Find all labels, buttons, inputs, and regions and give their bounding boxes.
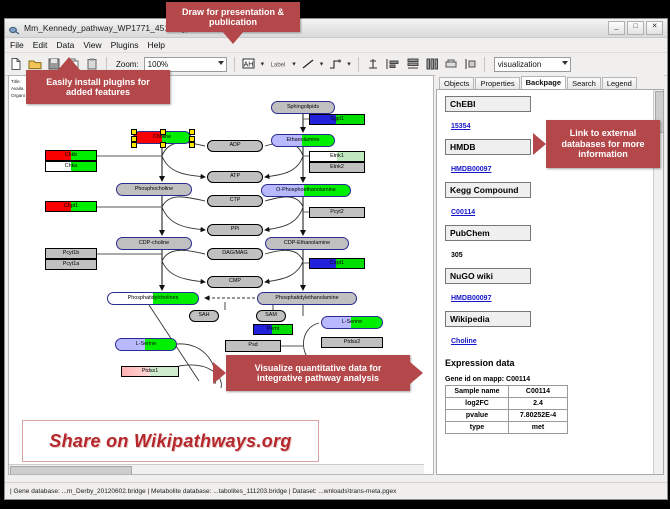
canvas-hscroll-thumb[interactable] [10, 466, 132, 475]
n-sgpl1[interactable]: Sgpl1 [309, 114, 365, 125]
n-psd-label: Psd [248, 343, 257, 348]
expr-key-type: type [446, 422, 509, 434]
text-tool-icon[interactable]: AH [242, 57, 256, 71]
table-row: pvalue 7.80252E-4 [446, 410, 568, 422]
n-sgpl1-label: Sgpl1 [330, 117, 344, 122]
toolbar-separator-4 [484, 57, 485, 72]
open-icon[interactable] [28, 57, 42, 71]
table-row: Sample name C00114 [446, 386, 568, 398]
n-lserine-right[interactable]: L-Serine [321, 316, 383, 329]
menu-bar: File Edit Data View Plugins Help [5, 38, 667, 53]
chevron-down-icon-2 [562, 61, 568, 65]
label-tool-icon[interactable]: Label [269, 57, 287, 71]
tab-backpage[interactable]: Backpage [521, 76, 566, 89]
menu-item-plugins[interactable]: Plugins [111, 40, 139, 50]
n-ctp[interactable]: CTP [207, 195, 263, 207]
callout-draw: Draw for presentation & publication [166, 2, 300, 32]
n-dagmag[interactable]: DAG/MAG [207, 248, 263, 260]
n-ptdss1[interactable]: Ptdss1 [121, 366, 179, 377]
n-cdp-ethanolamine[interactable]: CDP-Ethanolamine [265, 237, 349, 250]
menu-item-file[interactable]: File [10, 40, 24, 50]
n-chkb-label: Chkb [65, 153, 78, 158]
pathway-canvas[interactable]: Title: Availa Organi [8, 75, 434, 475]
n-pemt[interactable]: Pemt [253, 324, 293, 335]
line-tool-icon[interactable] [301, 57, 315, 71]
n-cmp-label: CMP [229, 279, 241, 284]
order-tool-icon[interactable] [425, 57, 439, 71]
status-bar: | Gene database: ...m_Derby_20120602.bri… [5, 482, 667, 499]
n-cdp-choline-label: CDP-choline [139, 241, 169, 246]
n-pcyt1a[interactable]: Pcyt1a [45, 259, 97, 270]
side-tabs: Objects Properties Backpage Search Legen… [436, 75, 664, 89]
callout-visualize-arrow-icon [213, 362, 226, 384]
selection-handle[interactable] [131, 142, 137, 148]
n-ptdss2-label: Ptdss2 [344, 340, 360, 345]
n-dagmag-label: DAG/MAG [222, 251, 247, 256]
expr-key-pvalue: pvalue [446, 410, 509, 422]
n-lserine-left[interactable]: L-Serine [115, 338, 177, 351]
n-sam[interactable]: SAM [256, 310, 286, 322]
n-etnk2-label: Etnk2 [330, 165, 344, 170]
expr-val-pvalue: 7.80252E-4 [509, 410, 568, 422]
menu-item-data[interactable]: Data [56, 40, 74, 50]
visualization-combo[interactable]: visualization [494, 57, 571, 72]
n-cdp-ethanolamine-label: CDP-Ethanolamine [284, 241, 330, 246]
gene-id-label: Gene id on mapp: C00114 [445, 376, 655, 383]
n-ppi-label: PPi [231, 227, 239, 232]
visualization-value: visualization [498, 60, 542, 69]
tab-legend[interactable]: Legend [602, 77, 637, 89]
callout-visualize-arrow-icon-2 [410, 362, 423, 384]
n-chpt1[interactable]: Chpt1 [45, 201, 97, 212]
n-pcyt1b[interactable]: Pcyt1b [45, 248, 97, 259]
canvas-hscrollbar[interactable] [9, 464, 424, 474]
selection-handle[interactable] [131, 136, 137, 142]
n-chpt1-label: Chpt1 [64, 204, 78, 209]
close-button[interactable]: ✕ [646, 21, 663, 35]
tab-properties[interactable]: Properties [475, 77, 519, 89]
n-ppi[interactable]: PPi [207, 224, 263, 236]
n-sah-label: SAH [198, 313, 209, 318]
n-phosphatidylethanolamine[interactable]: Phosphatidylethanolamine [257, 292, 357, 305]
canvas-meta-organism: Organi [11, 92, 25, 99]
n-ethanolamine[interactable]: Ethanolamine [271, 134, 335, 147]
line-tool-chevron-icon[interactable]: ▾ [320, 60, 324, 68]
callout-share-label: Share on Wikipathways.org [49, 431, 291, 452]
db-header-kegg: Kegg Compound [445, 182, 531, 198]
db-value-pubchem: 305 [451, 252, 463, 259]
n-lserine-right-label: L-Serine [342, 320, 362, 325]
callout-plugins-arrow-icon [58, 57, 80, 70]
n-sphingolipids[interactable]: Sphingolipids [271, 101, 335, 114]
n-sphingolipids-label: Sphingolipids [287, 105, 319, 110]
n-etnk1-label: Etnk1 [330, 154, 344, 159]
callout-plugins: Easily install plugins for added feature… [26, 70, 170, 104]
svg-text:AH: AH [243, 62, 253, 69]
canvas-meta-title: Title: [11, 78, 25, 85]
n-adp[interactable]: ADP [207, 140, 263, 152]
n-atp-label: ATP [230, 174, 240, 179]
n-adp-label: ADP [229, 143, 240, 148]
anchor-tool-icon[interactable] [366, 57, 380, 71]
tab-search[interactable]: Search [567, 77, 601, 89]
selection-handle[interactable] [189, 142, 195, 148]
svg-text:Label: Label [271, 63, 286, 69]
distribute-tool-icon[interactable] [406, 57, 420, 71]
n-o-phosphoethanolamine[interactable]: O-Phosphoethanolamine [261, 184, 351, 197]
n-choline-label: Choline [153, 135, 171, 140]
n-phosphocholine-label: Phosphocholine [135, 187, 173, 192]
n-ptdss2[interactable]: Ptdss2 [321, 337, 383, 348]
toolbar-separator-2 [234, 57, 235, 72]
expr-val-sample-name: C00114 [509, 386, 568, 398]
n-cdp-choline[interactable]: CDP-choline [116, 237, 192, 250]
minimize-button[interactable]: _ [608, 21, 625, 35]
db-link-wikipedia[interactable]: Choline [451, 338, 477, 345]
maximize-button[interactable]: □ [627, 21, 644, 35]
db-header-pubchem: PubChem [445, 225, 531, 241]
n-ptdss1-label: Ptdss1 [142, 369, 158, 374]
tab-objects[interactable]: Objects [439, 77, 474, 89]
expr-val-log2fc: 2.4 [509, 398, 568, 410]
paste-icon[interactable] [85, 57, 99, 71]
chevron-down-icon [218, 61, 224, 65]
db-header-hmdb: HMDB [445, 139, 531, 155]
n-o-phosphoethanolamine-label: O-Phosphoethanolamine [276, 188, 336, 193]
db-header-nugo: NuGO wiki [445, 268, 531, 284]
title-bar: Mm_Kennedy_pathway_WP1771_45176.gpml _ □… [5, 19, 667, 38]
menu-item-help[interactable]: Help [148, 40, 165, 50]
selection-handle[interactable] [189, 129, 195, 135]
n-phosphatidylcholines[interactable]: Phosphatidylcholines [107, 292, 199, 305]
app-icon [9, 23, 20, 34]
selection-handle[interactable] [131, 129, 137, 135]
n-pemt-label: Pemt [267, 327, 280, 332]
stack-tool-icon[interactable] [444, 57, 458, 71]
n-cept1-label: Cept1 [330, 261, 344, 266]
window-buttons: _ □ ✕ [608, 21, 663, 35]
db-link-nugo[interactable]: HMDB00097 [451, 295, 491, 302]
n-pcyt2-label: Pcyt2 [330, 210, 343, 215]
menu-item-edit[interactable]: Edit [33, 40, 48, 50]
expression-table: Sample name C00114 log2FC 2.4 pvalue 7.8… [445, 385, 568, 434]
expr-key-log2fc: log2FC [446, 398, 509, 410]
selection-handle[interactable] [160, 142, 166, 148]
callout-links-arrow-icon [533, 133, 546, 155]
connector-tool-chevron-icon[interactable]: ▾ [347, 60, 351, 68]
n-cmp[interactable]: CMP [207, 276, 263, 288]
n-pcyt1a-label: Pcyt1a [63, 262, 79, 267]
db-link-kegg[interactable]: C00114 [451, 209, 475, 216]
zoom-value: 100% [148, 60, 168, 69]
db-header-chebi: ChEBI [445, 96, 531, 112]
canvas-meta: Title: Availa Organi [11, 78, 25, 99]
toolbar-separator-3 [358, 57, 359, 72]
selection-handle[interactable] [189, 136, 195, 142]
db-header-wikipedia: Wikipedia [445, 311, 531, 327]
table-row: log2FC 2.4 [446, 398, 568, 410]
n-chka[interactable]: Chka [45, 161, 97, 172]
n-etnk2[interactable]: Etnk2 [309, 162, 365, 173]
menu-item-view[interactable]: View [83, 40, 101, 50]
callout-links: Link to external databases for more info… [546, 120, 660, 168]
screenshot-root: Mm_Kennedy_pathway_WP1771_45176.gpml _ □… [0, 0, 670, 509]
n-lserine-left-label: L-Serine [136, 342, 156, 347]
n-ctp-label: CTP [230, 198, 241, 203]
callout-draw-arrow-icon [222, 31, 244, 44]
callout-share: Share on Wikipathways.org [22, 420, 319, 462]
db-link-hmdb[interactable]: HMDB00097 [451, 166, 491, 173]
n-sam-label: SAM [265, 313, 277, 318]
n-chkb[interactable]: Chkb [45, 150, 97, 161]
new-icon[interactable] [9, 57, 23, 71]
n-phosphatidylethanolamine-label: Phosphatidylethanolamine [275, 296, 338, 301]
n-psd[interactable]: Psd [225, 340, 281, 352]
callout-visualize: Visualize quantitative data for integrat… [226, 355, 410, 391]
n-ethanolamine-label: Ethanolamine [287, 138, 320, 143]
group-tool-icon[interactable] [463, 57, 477, 71]
text-tool-chevron-icon[interactable]: ▾ [261, 60, 265, 68]
table-row: type met [446, 422, 568, 434]
status-text: | Gene database: ...m_Derby_20120602.bri… [10, 488, 396, 495]
n-etnk1[interactable]: Etnk1 [309, 151, 365, 162]
expr-val-type: met [509, 422, 568, 434]
label-tool-chevron-icon[interactable]: ▾ [292, 60, 296, 68]
n-sah[interactable]: SAH [189, 310, 219, 322]
db-link-chebi[interactable]: 15354 [451, 123, 470, 130]
canvas-meta-availability: Availa [11, 85, 25, 92]
expr-key-sample-name: Sample name [446, 386, 509, 398]
n-chka-label: Chka [65, 164, 78, 169]
n-atp[interactable]: ATP [207, 171, 263, 183]
expression-data-heading: Expression data [445, 358, 655, 368]
zoom-label: Zoom: [116, 60, 139, 69]
selection-handle[interactable] [160, 129, 166, 135]
n-pcyt2[interactable]: Pcyt2 [309, 207, 365, 218]
n-phosphatidylcholines-label: Phosphatidylcholines [128, 296, 179, 301]
n-cept1[interactable]: Cept1 [309, 258, 365, 269]
n-phosphocholine[interactable]: Phosphocholine [116, 183, 192, 196]
align-tool-icon[interactable] [385, 57, 401, 71]
connector-tool-icon[interactable] [328, 57, 342, 71]
n-pcyt1b-label: Pcyt1b [63, 251, 79, 256]
